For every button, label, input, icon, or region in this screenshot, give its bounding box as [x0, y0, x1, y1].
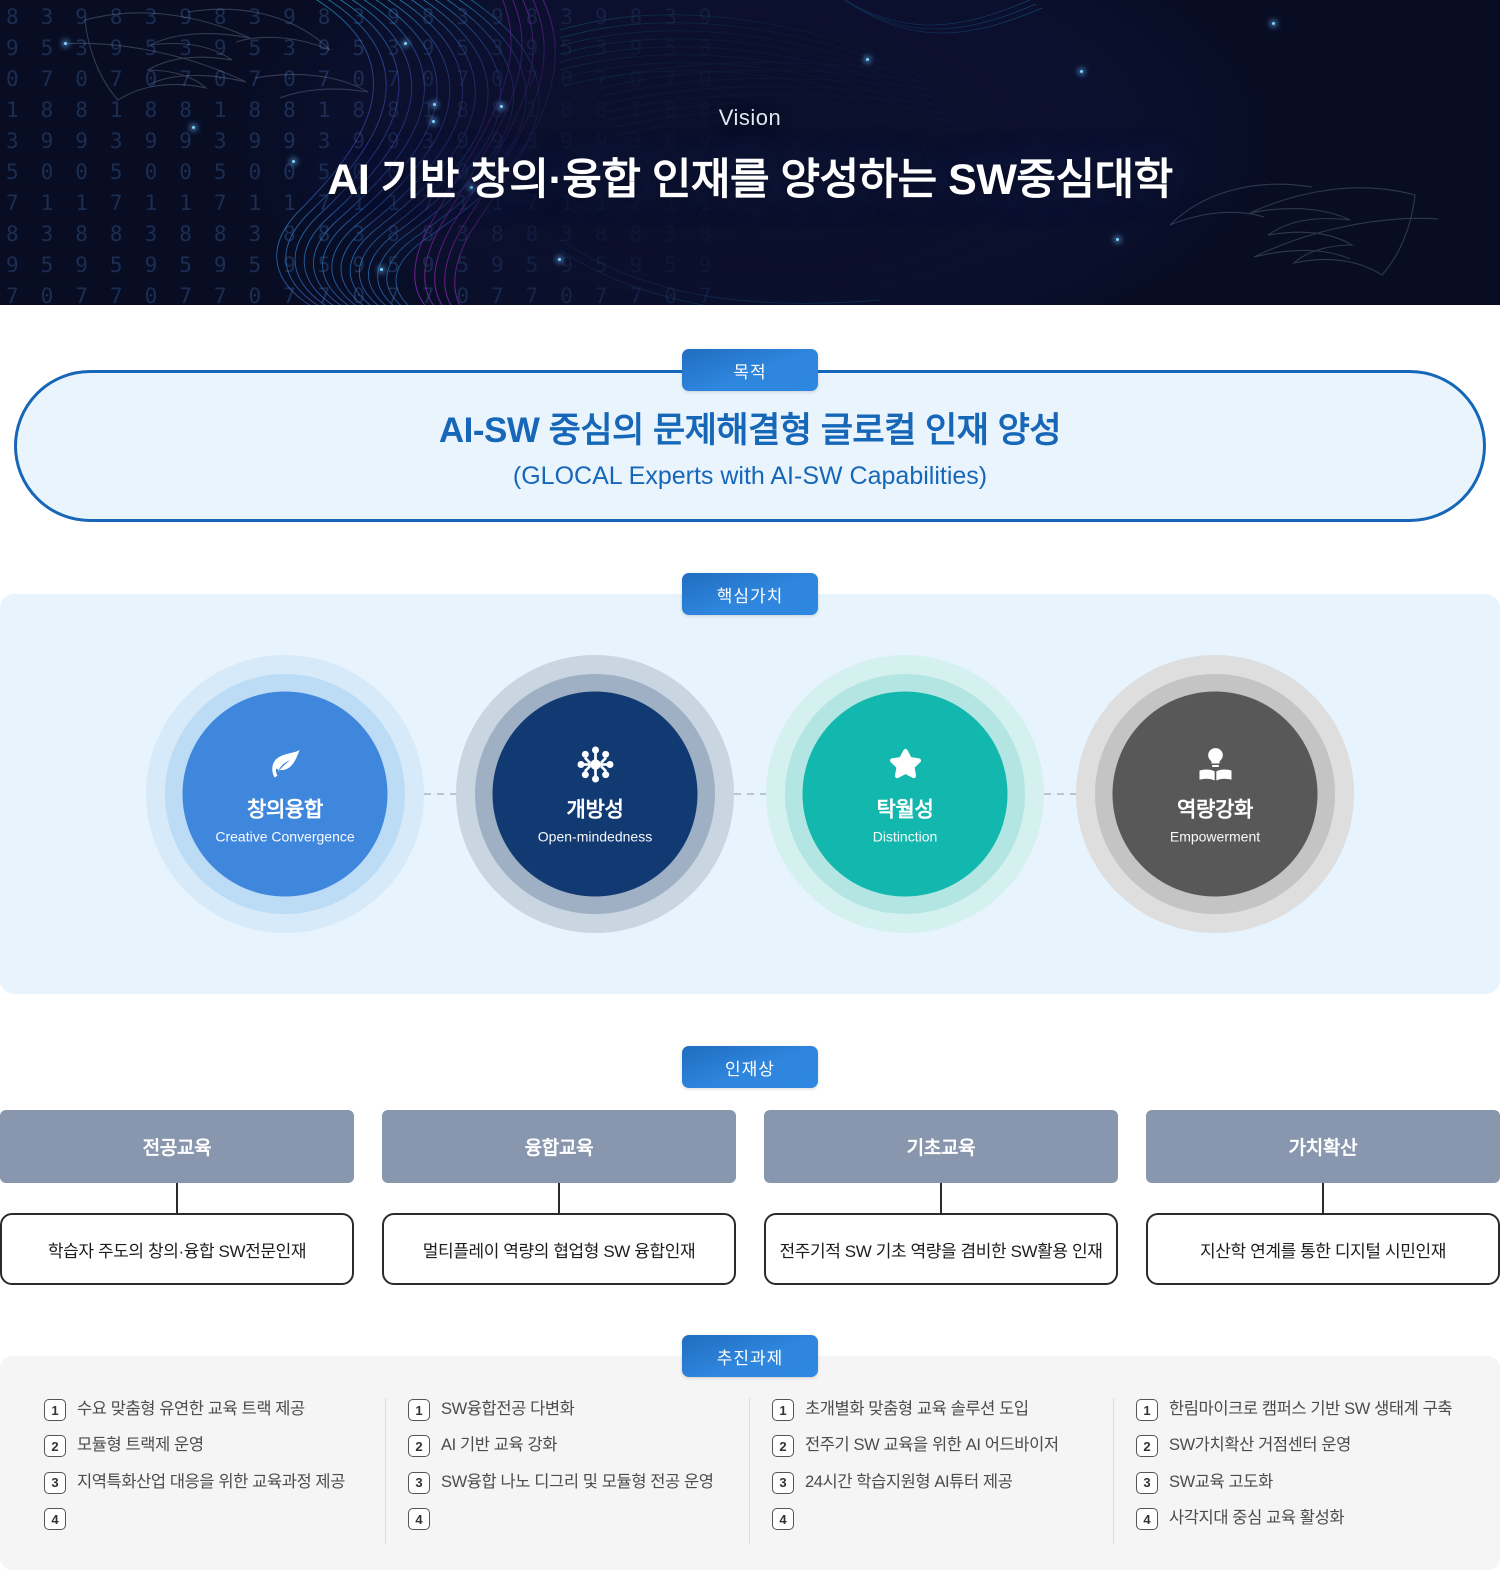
purpose-badge: 목적	[682, 349, 818, 391]
core-value-kr: 개방성	[566, 793, 623, 823]
task-text: 24시간 학습지원형 AI튜터 제공	[805, 1471, 1012, 1494]
task-number: 2	[44, 1435, 66, 1457]
tasks-column-3: 1 한림마이크로 캠퍼스 기반 SW 생태계 구축 2 SW가치확산 거점센터 …	[1114, 1398, 1478, 1544]
task-item: 2 전주기 SW 교육을 위한 AI 어드바이저	[772, 1434, 1091, 1457]
task-number: 4	[408, 1508, 430, 1530]
talent-connector	[1322, 1183, 1324, 1213]
core-value-en: Distinction	[873, 828, 938, 844]
core-value-item-2[interactable]: 탁월성 Distinction	[766, 655, 1044, 933]
talent-head: 융합교육	[382, 1110, 736, 1183]
hero-title: AI 기반 창의·융합 인재를 양성하는 SW중심대학	[0, 145, 1500, 207]
hero-eyebrow: Vision	[0, 105, 1500, 131]
purpose-box: AI-SW 중심의 문제해결형 글로컬 인재 양성 (GLOCAL Expert…	[14, 370, 1486, 522]
core-values-badge-row: 핵심가치	[0, 573, 1500, 615]
talent-column-1: 융합교육 멀티플레이 역량의 협업형 SW 융합인재	[382, 1110, 736, 1285]
core-value-en: Empowerment	[1170, 828, 1260, 844]
task-item: 4	[408, 1507, 727, 1530]
core-value-en: Open-mindedness	[538, 828, 652, 844]
task-item: 4	[44, 1507, 363, 1530]
talent-connector	[558, 1183, 560, 1213]
task-item: 1 한림마이크로 캠퍼스 기반 SW 생태계 구축	[1136, 1398, 1456, 1421]
task-text: SW가치확산 거점센터 운영	[1169, 1434, 1351, 1457]
core-value-item-0[interactable]: 창의융합 Creative Convergence	[146, 655, 424, 933]
task-number: 2	[772, 1435, 794, 1457]
talent-body: 전주기적 SW 기초 역량을 겸비한 SW활용 인재	[764, 1213, 1118, 1285]
talent-body: 지산학 연계를 통한 디지털 시민인재	[1146, 1213, 1500, 1285]
task-item: 3 지역특화산업 대응을 위한 교육과정 제공	[44, 1471, 363, 1494]
task-text: SW융합전공 다변화	[441, 1398, 574, 1421]
tasks-section: 추진과제 1 수요 맞춤형 유연한 교육 트랙 제공 2 모듈형 트랙제 운영 …	[0, 1335, 1500, 1570]
task-number: 3	[772, 1472, 794, 1494]
core-value-item-1[interactable]: 개방성 Open-mindedness	[456, 655, 734, 933]
talent-body: 멀티플레이 역량의 협업형 SW 융합인재	[382, 1213, 736, 1285]
task-item: 2 SW가치확산 거점센터 운영	[1136, 1434, 1456, 1457]
task-item: 1 SW융합전공 다변화	[408, 1398, 727, 1421]
core-value-kr: 탁월성	[876, 793, 933, 823]
core-values-panel: 창의융합 Creative Convergence	[0, 594, 1500, 994]
talent-connector	[176, 1183, 178, 1213]
core-circle: 개방성 Open-mindedness	[493, 692, 698, 897]
talent-section: 인재상 전공교육 학습자 주도의 창의·융합 SW전문인재 융합교육 멀티플레이…	[0, 1046, 1500, 1285]
network-icon	[575, 744, 615, 784]
star-icon	[885, 744, 925, 784]
tasks-column-2: 1 초개별화 맞춤형 교육 솔루션 도입 2 전주기 SW 교육을 위한 AI …	[750, 1398, 1114, 1544]
purpose-section: 목적 AI-SW 중심의 문제해결형 글로컬 인재 양성 (GLOCAL Exp…	[0, 349, 1500, 522]
task-text: 사각지대 중심 교육 활성화	[1169, 1507, 1344, 1530]
task-item: 1 초개별화 맞춤형 교육 솔루션 도입	[772, 1398, 1091, 1421]
talent-body: 학습자 주도의 창의·융합 SW전문인재	[0, 1213, 354, 1285]
task-item: 2 모듈형 트랙제 운영	[44, 1434, 363, 1457]
task-item: 1 수요 맞춤형 유연한 교육 트랙 제공	[44, 1398, 363, 1421]
task-item: 3 SW융합 나노 디그리 및 모듈형 전공 운영	[408, 1471, 727, 1494]
task-text: 초개별화 맞춤형 교육 솔루션 도입	[805, 1398, 1029, 1421]
purpose-title-kr: AI-SW 중심의 문제해결형 글로컬 인재 양성	[439, 402, 1061, 453]
talent-badge: 인재상	[682, 1046, 818, 1088]
connector-dash	[424, 793, 456, 795]
task-number: 4	[44, 1508, 66, 1530]
talent-column-3: 가치확산 지산학 연계를 통한 디지털 시민인재	[1146, 1110, 1500, 1285]
task-number: 4	[1136, 1508, 1158, 1530]
hero-text-block: Vision AI 기반 창의·융합 인재를 양성하는 SW중심대학	[0, 105, 1500, 207]
task-number: 2	[1136, 1435, 1158, 1457]
task-item: 3 24시간 학습지원형 AI튜터 제공	[772, 1471, 1091, 1494]
hero-banner: 839839839839839839839 953953953953953953…	[0, 0, 1500, 305]
core-circle: 탁월성 Distinction	[803, 692, 1008, 897]
task-text: AI 기반 교육 강화	[441, 1434, 557, 1457]
leaf-icon	[265, 744, 305, 784]
core-value-kr: 역량강화	[1177, 793, 1253, 823]
talent-head: 기초교육	[764, 1110, 1118, 1183]
talent-head: 가치확산	[1146, 1110, 1500, 1183]
task-number: 2	[408, 1435, 430, 1457]
task-text: 모듈형 트랙제 운영	[77, 1434, 204, 1457]
task-item: 3 SW교육 고도화	[1136, 1471, 1456, 1494]
tasks-badge-row: 추진과제	[0, 1335, 1500, 1377]
task-number: 1	[44, 1399, 66, 1421]
purpose-badge-row: 목적	[0, 349, 1500, 391]
connector-dash	[734, 793, 766, 795]
talent-column-0: 전공교육 학습자 주도의 창의·융합 SW전문인재	[0, 1110, 354, 1285]
talent-badge-row: 인재상	[0, 1046, 1500, 1088]
task-text: 수요 맞춤형 유연한 교육 트랙 제공	[77, 1398, 305, 1421]
task-number: 1	[1136, 1399, 1158, 1421]
core-value-en: Creative Convergence	[215, 828, 354, 844]
core-circle: 창의융합 Creative Convergence	[183, 692, 388, 897]
connector-dash	[1044, 793, 1076, 795]
task-number: 1	[772, 1399, 794, 1421]
task-number: 1	[408, 1399, 430, 1421]
task-item: 4	[772, 1507, 1091, 1530]
task-item: 2 AI 기반 교육 강화	[408, 1434, 727, 1457]
task-number: 3	[44, 1472, 66, 1494]
task-text: 지역특화산업 대응을 위한 교육과정 제공	[77, 1471, 345, 1494]
task-number: 4	[772, 1508, 794, 1530]
talent-grid: 전공교육 학습자 주도의 창의·융합 SW전문인재 융합교육 멀티플레이 역량의…	[0, 1110, 1500, 1285]
knowledge-icon	[1195, 744, 1235, 784]
talent-connector	[940, 1183, 942, 1213]
core-values-section: 핵심가치 창의융합 Creative Convergence	[0, 573, 1500, 994]
core-values-track: 창의융합 Creative Convergence	[146, 655, 1354, 933]
core-value-kr: 창의융합	[247, 793, 323, 823]
task-number: 3	[1136, 1472, 1158, 1494]
task-text: SW교육 고도화	[1169, 1471, 1273, 1494]
task-item: 4 사각지대 중심 교육 활성화	[1136, 1507, 1456, 1530]
purpose-title-en: (GLOCAL Experts with AI-SW Capabilities)	[513, 462, 987, 491]
task-text: 한림마이크로 캠퍼스 기반 SW 생태계 구축	[1169, 1398, 1452, 1421]
task-text: SW융합 나노 디그리 및 모듈형 전공 운영	[441, 1471, 714, 1494]
tasks-badge: 추진과제	[682, 1335, 818, 1377]
core-value-item-3[interactable]: 역량강화 Empowerment	[1076, 655, 1354, 933]
task-number: 3	[408, 1472, 430, 1494]
core-values-badge: 핵심가치	[682, 573, 818, 615]
tasks-column-0: 1 수요 맞춤형 유연한 교육 트랙 제공 2 모듈형 트랙제 운영 3 지역특…	[22, 1398, 386, 1544]
tasks-column-1: 1 SW융합전공 다변화 2 AI 기반 교육 강화 3 SW융합 나노 디그리…	[386, 1398, 750, 1544]
task-text: 전주기 SW 교육을 위한 AI 어드바이저	[805, 1434, 1059, 1457]
talent-head: 전공교육	[0, 1110, 354, 1183]
tasks-panel: 1 수요 맞춤형 유연한 교육 트랙 제공 2 모듈형 트랙제 운영 3 지역특…	[0, 1356, 1500, 1570]
talent-column-2: 기초교육 전주기적 SW 기초 역량을 겸비한 SW활용 인재	[764, 1110, 1118, 1285]
core-circle: 역량강화 Empowerment	[1113, 692, 1318, 897]
